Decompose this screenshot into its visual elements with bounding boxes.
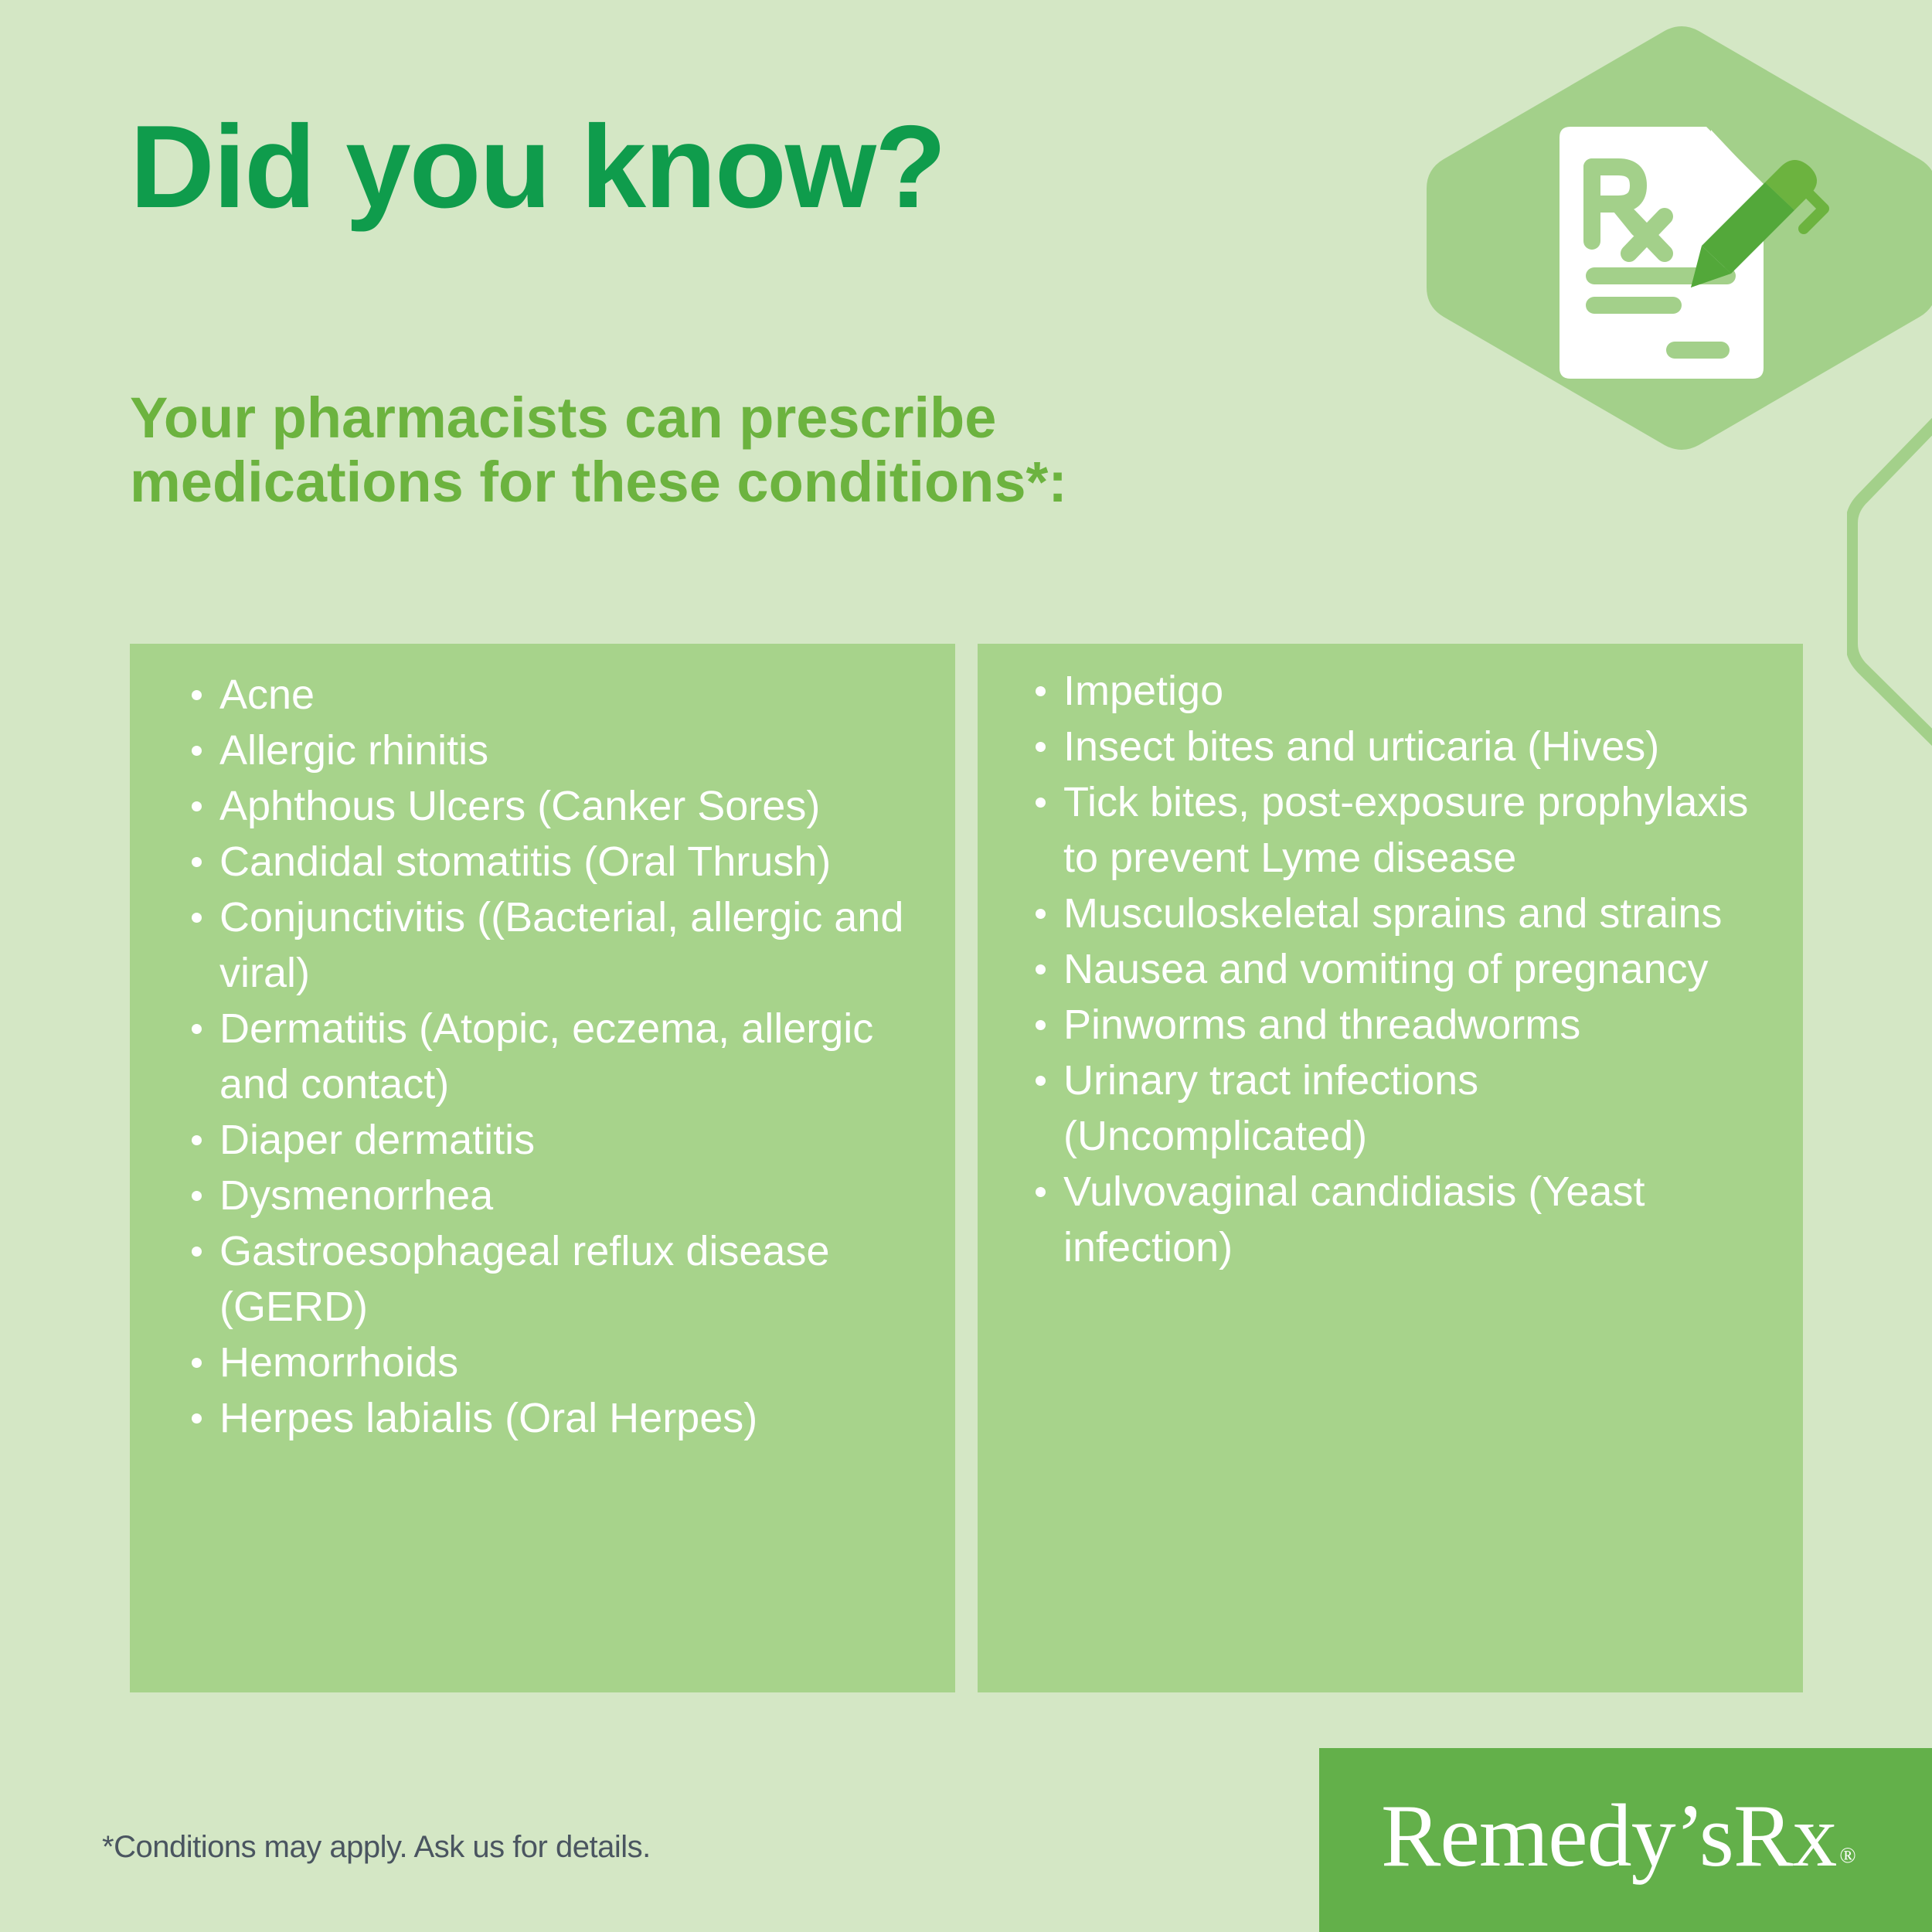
registered-trademark-icon: ® [1839, 1844, 1855, 1868]
condition-label: Gastroesophageal reflux disease (GERD) [219, 1228, 830, 1330]
hexagon-badge [1419, 22, 1932, 454]
footnote: *Conditions may apply. Ask us for detail… [102, 1830, 651, 1865]
condition-label: Dermatitis (Atopic, eczema, allergic and… [219, 1005, 873, 1107]
bullet-icon [1036, 1187, 1046, 1197]
condition-list-item: Herpes labialis (Oral Herpes) [192, 1390, 934, 1446]
condition-label: Insect bites and urticaria (Hives) [1063, 723, 1659, 770]
condition-list-item: Vulvovaginal candidiasis (Yeast infectio… [1036, 1164, 1793, 1275]
condition-list-item: Aphthous Ulcers (Canker Sores) [192, 778, 934, 834]
condition-list-item: Acne [192, 667, 934, 723]
bullet-icon [192, 1191, 202, 1201]
infographic-canvas: Did you know? Your pharmacists can presc… [0, 0, 1932, 1932]
condition-list-item: Impetigo [1036, 663, 1793, 719]
condition-list-item: Dysmenorrhea [192, 1168, 934, 1223]
brand-wordmark: Remedy’sRx® [1381, 1791, 1855, 1881]
bullet-icon [192, 690, 202, 700]
bullet-icon [192, 1413, 202, 1423]
bullet-icon [1036, 686, 1046, 696]
bullet-icon [1036, 1076, 1046, 1086]
hexagon-outline-decoration [1847, 352, 1932, 823]
condition-list-item: Conjunctivitis ((Bacterial, allergic and… [192, 889, 934, 1001]
condition-list-item: Insect bites and urticaria (Hives) [1036, 719, 1793, 774]
conditions-box-left: AcneAllergic rhinitisAphthous Ulcers (Ca… [130, 644, 955, 1692]
bullet-icon [192, 1135, 202, 1145]
conditions-box-right: ImpetigoInsect bites and urticaria (Hive… [978, 644, 1803, 1692]
condition-label: Vulvovaginal candidiasis (Yeast infectio… [1063, 1168, 1645, 1270]
bullet-icon [192, 1358, 202, 1368]
condition-list-item: Gastroesophageal reflux disease (GERD) [192, 1223, 934, 1335]
condition-label: Nausea and vomiting of pregnancy [1063, 946, 1709, 992]
bullet-icon [192, 1024, 202, 1034]
condition-label: Hemorrhoids [219, 1339, 458, 1386]
condition-label: Conjunctivitis ((Bacterial, allergic and… [219, 894, 903, 996]
condition-list-item: Dermatitis (Atopic, eczema, allergic and… [192, 1001, 934, 1112]
conditions-list-right: ImpetigoInsect bites and urticaria (Hive… [1036, 663, 1793, 1275]
condition-label: Herpes labialis (Oral Herpes) [219, 1395, 757, 1441]
bullet-icon [192, 1247, 202, 1257]
condition-list-item: Nausea and vomiting of pregnancy [1036, 941, 1793, 997]
bullet-icon [1036, 798, 1046, 808]
brand-wordmark-text: Remedy’sRx [1381, 1787, 1836, 1886]
condition-label: Urinary tract infections (Uncomplicated) [1063, 1057, 1478, 1159]
conditions-list-left: AcneAllergic rhinitisAphthous Ulcers (Ca… [192, 667, 934, 1446]
subtitle-line-2: medications for these conditions*: [130, 451, 1289, 515]
bullet-icon [192, 913, 202, 923]
condition-label: Diaper dermatitis [219, 1117, 535, 1163]
condition-label: Dysmenorrhea [219, 1172, 493, 1219]
bullet-icon [1036, 909, 1046, 919]
bullet-icon [192, 857, 202, 867]
bullet-icon [1036, 742, 1046, 752]
prescription-document-icon [1560, 127, 1764, 379]
subtitle-line-1: Your pharmacists can prescribe [130, 386, 1289, 451]
brand-logo-block: Remedy’sRx® [1319, 1748, 1932, 1932]
condition-list-item: Allergic rhinitis [192, 723, 934, 778]
bullet-icon [192, 746, 202, 756]
condition-label: Impetigo [1063, 668, 1223, 714]
bullet-icon [1036, 964, 1046, 975]
bullet-icon [192, 801, 202, 811]
condition-list-item: Urinary tract infections (Uncomplicated) [1036, 1053, 1793, 1164]
condition-list-item: Musculoskeletal sprains and strains [1036, 886, 1793, 941]
condition-list-item: Candidal stomatitis (Oral Thrush) [192, 834, 934, 889]
condition-label: Aphthous Ulcers (Canker Sores) [219, 783, 820, 829]
condition-list-item: Tick bites, post-exposure prophylaxis to… [1036, 774, 1793, 886]
page-subtitle: Your pharmacists can prescribe medicatio… [130, 386, 1289, 515]
condition-label: Musculoskeletal sprains and strains [1063, 890, 1722, 937]
condition-label: Allergic rhinitis [219, 727, 488, 774]
condition-label: Acne [219, 672, 315, 718]
condition-label: Tick bites, post-exposure prophylaxis to… [1063, 779, 1748, 881]
condition-list-item: Hemorrhoids [192, 1335, 934, 1390]
condition-label: Pinworms and threadworms [1063, 1002, 1580, 1048]
condition-list-item: Pinworms and threadworms [1036, 997, 1793, 1053]
page-title: Did you know? [130, 108, 945, 226]
bullet-icon [1036, 1020, 1046, 1030]
pencil-icon [1691, 160, 1824, 287]
condition-label: Candidal stomatitis (Oral Thrush) [219, 838, 831, 885]
condition-list-item: Diaper dermatitis [192, 1112, 934, 1168]
